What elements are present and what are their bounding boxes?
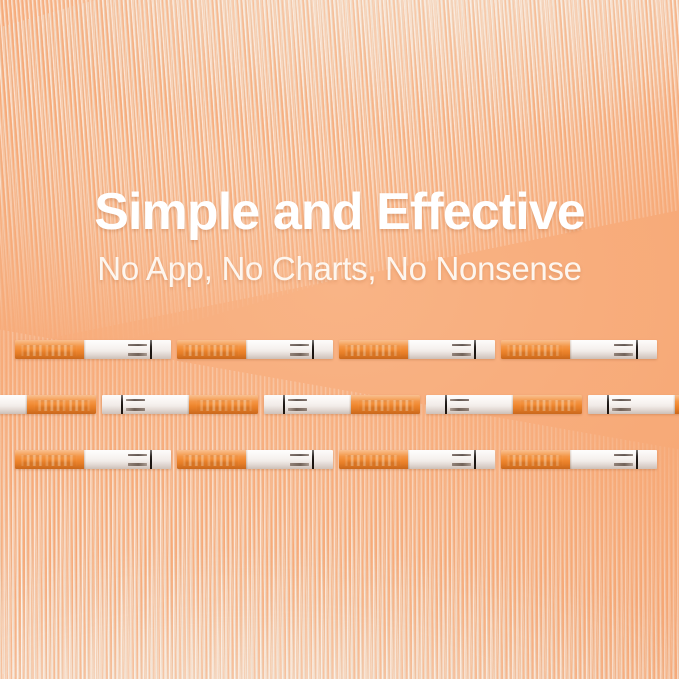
- test-strip: [501, 340, 657, 359]
- test-strip-seam: [121, 395, 123, 414]
- test-line: [288, 408, 307, 410]
- test-strip-handle: [501, 450, 570, 469]
- test-strip-tip: [314, 340, 333, 359]
- test-strip: [426, 395, 582, 414]
- test-strip: [501, 450, 657, 469]
- control-line: [614, 454, 633, 456]
- strip-row-2: [0, 395, 679, 417]
- product-image-canvas: Simple and Effective No App, No Charts, …: [0, 0, 679, 679]
- test-strip-result-lines: [288, 399, 307, 411]
- test-strip-result-window: [246, 450, 333, 469]
- strip-row-1: [0, 340, 679, 362]
- test-strip-tip: [638, 450, 657, 469]
- test-strip-tip: [588, 395, 607, 414]
- test-strip-tip: [426, 395, 445, 414]
- test-strip-handle: [351, 395, 420, 414]
- test-strip-result-window: [570, 450, 657, 469]
- page-title: Simple and Effective: [0, 186, 679, 238]
- test-strip-tip: [476, 450, 495, 469]
- test-strip-tip: [264, 395, 283, 414]
- test-strip-result-window: [84, 450, 171, 469]
- test-strip-handle: [513, 395, 582, 414]
- control-line: [126, 399, 145, 401]
- test-strip-tip: [152, 450, 171, 469]
- test-line: [614, 463, 633, 465]
- test-strip-result-lines: [452, 454, 471, 466]
- test-strip-result-window: [408, 340, 495, 359]
- control-line: [612, 399, 631, 401]
- test-strip: [15, 340, 171, 359]
- test-strip: [588, 395, 679, 414]
- test-line: [614, 353, 633, 355]
- test-line: [450, 408, 469, 410]
- test-strip-handle: [501, 340, 570, 359]
- control-line: [128, 454, 147, 456]
- test-strip-result-window: [408, 450, 495, 469]
- test-strip: [102, 395, 258, 414]
- test-strip-tip: [102, 395, 121, 414]
- test-line: [612, 408, 631, 410]
- control-line: [450, 399, 469, 401]
- test-strip-result-lines: [450, 399, 469, 411]
- control-line: [452, 454, 471, 456]
- test-strip-result-window: [246, 340, 333, 359]
- test-strip-result-lines: [614, 344, 633, 356]
- test-strip-handle: [339, 340, 408, 359]
- test-strip-result-lines: [128, 454, 147, 466]
- test-strip-result-window: [426, 395, 513, 414]
- control-line: [128, 344, 147, 346]
- test-strip-result-lines: [614, 454, 633, 466]
- test-strip: [177, 450, 333, 469]
- test-strip-seam: [283, 395, 285, 414]
- test-strip-handle: [189, 395, 258, 414]
- test-strip: [264, 395, 420, 414]
- strip-row-3: [0, 450, 679, 472]
- test-strip-handle: [177, 450, 246, 469]
- test-line: [452, 353, 471, 355]
- test-strip-handle: [675, 395, 679, 414]
- test-strip-result-window: [588, 395, 675, 414]
- page-subtitle: No App, No Charts, No Nonsense: [0, 252, 679, 285]
- test-strip-result-lines: [126, 399, 145, 411]
- test-strip-handle: [177, 340, 246, 359]
- control-line: [614, 344, 633, 346]
- test-strip-handle: [15, 450, 84, 469]
- test-strip-result-lines: [290, 454, 309, 466]
- test-strip-tip: [152, 340, 171, 359]
- test-strip-result-window: [264, 395, 351, 414]
- control-line: [452, 344, 471, 346]
- test-strip: [339, 450, 495, 469]
- test-strip-handle: [15, 340, 84, 359]
- test-strip-result-window: [84, 340, 171, 359]
- control-line: [290, 454, 309, 456]
- test-strip-result-lines: [452, 344, 471, 356]
- test-strip-result-lines: [290, 344, 309, 356]
- control-line: [288, 399, 307, 401]
- test-strip-handle: [339, 450, 408, 469]
- test-line: [452, 463, 471, 465]
- test-line: [290, 463, 309, 465]
- test-strip: [0, 395, 96, 414]
- test-line: [128, 353, 147, 355]
- test-strip-handle: [27, 395, 96, 414]
- test-strip-result-lines: [128, 344, 147, 356]
- test-strip-tip: [314, 450, 333, 469]
- test-strip-grid: [0, 0, 679, 679]
- test-line: [128, 463, 147, 465]
- test-strip-seam: [445, 395, 447, 414]
- test-strip-result-window: [102, 395, 189, 414]
- test-strip-result-lines: [612, 399, 631, 411]
- test-strip: [15, 450, 171, 469]
- test-line: [290, 353, 309, 355]
- test-strip: [177, 340, 333, 359]
- test-strip-result-window: [570, 340, 657, 359]
- headline-block: Simple and Effective No App, No Charts, …: [0, 186, 679, 285]
- test-strip-tip: [638, 340, 657, 359]
- test-strip-result-window: [0, 395, 27, 414]
- control-line: [290, 344, 309, 346]
- test-strip-tip: [476, 340, 495, 359]
- test-line: [126, 408, 145, 410]
- test-strip: [339, 340, 495, 359]
- test-strip-seam: [607, 395, 609, 414]
